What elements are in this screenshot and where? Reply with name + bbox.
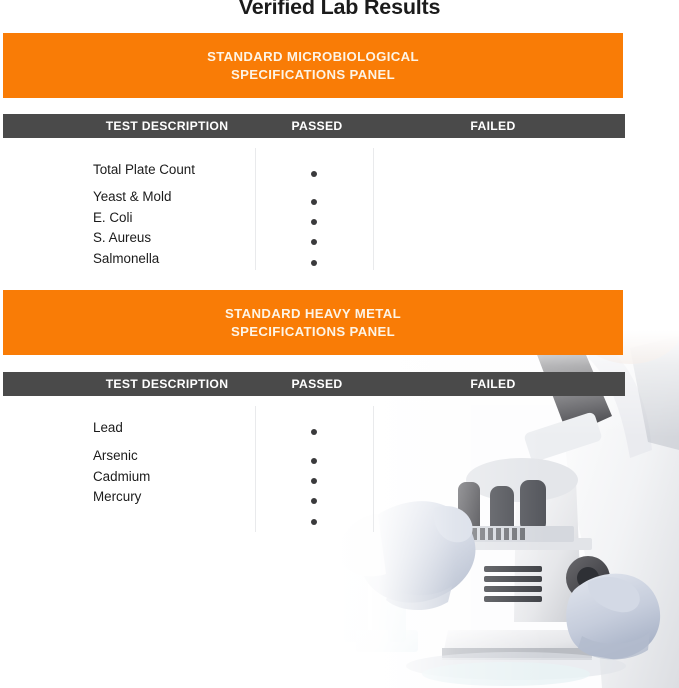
table-body-heavy-metal: Lead Arsenic Cadmium Mercury: [0, 396, 679, 531]
passed-mark-row: [255, 491, 373, 511]
passed-mark-row: [255, 512, 373, 532]
table-row: Total Plate Count: [93, 160, 253, 180]
column-header-passed: PASSED: [258, 114, 376, 138]
passed-dot-icon: [311, 260, 317, 266]
table-row: Yeast & Mold: [93, 187, 253, 207]
banner-line-2: SPECIFICATIONS PANEL: [231, 323, 395, 341]
column-divider-right: [373, 148, 374, 270]
banner-line-2: SPECIFICATIONS PANEL: [231, 66, 395, 84]
column-header-microbiological: TEST DESCRIPTION PASSED FAILED: [3, 114, 625, 138]
table-body-microbiological: Total Plate Count Yeast & Mold E. Coli S…: [0, 138, 679, 268]
test-name-list-heavy-metal: Lead Arsenic Cadmium Mercury: [93, 418, 253, 508]
column-header-passed: PASSED: [258, 372, 376, 396]
page-title: Verified Lab Results: [0, 0, 679, 20]
passed-mark-row: [255, 212, 373, 232]
passed-mark-row: [255, 164, 373, 184]
column-header-failed: FAILED: [423, 114, 563, 138]
verified-lab-results-page: Verified Lab Results STANDARD MICROBIOLO…: [0, 0, 679, 688]
column-divider-right: [373, 406, 374, 532]
table-row: Lead: [93, 418, 253, 438]
column-header-test-description: TEST DESCRIPTION: [63, 372, 271, 396]
test-name-list-microbiological: Total Plate Count Yeast & Mold E. Coli S…: [93, 160, 253, 269]
passed-dot-icon: [311, 458, 317, 464]
passed-mark-row: [255, 422, 373, 442]
panel-banner-heavy-metal: STANDARD HEAVY METAL SPECIFICATIONS PANE…: [3, 290, 623, 355]
table-row: Mercury: [93, 487, 253, 507]
banner-line-1: STANDARD MICROBIOLOGICAL: [207, 48, 419, 66]
passed-mark-row: [255, 253, 373, 273]
banner-line-1: STANDARD HEAVY METAL: [225, 305, 401, 323]
column-header-test-description: TEST DESCRIPTION: [63, 114, 271, 138]
panel-banner-microbiological: STANDARD MICROBIOLOGICAL SPECIFICATIONS …: [3, 33, 623, 98]
table-row: S. Aureus: [93, 228, 253, 248]
table-row: Arsenic: [93, 446, 253, 466]
column-header-failed: FAILED: [423, 372, 563, 396]
table-row: Cadmium: [93, 467, 253, 487]
passed-dot-icon: [311, 239, 317, 245]
passed-dot-icon: [311, 171, 317, 177]
passed-dot-icon: [311, 219, 317, 225]
table-row: Salmonella: [93, 249, 253, 269]
passed-marks-heavy-metal: [255, 422, 373, 532]
passed-dot-icon: [311, 199, 317, 205]
passed-dot-icon: [311, 478, 317, 484]
passed-mark-row: [255, 471, 373, 491]
table-row: E. Coli: [93, 208, 253, 228]
passed-dot-icon: [311, 519, 317, 525]
passed-mark-row: [255, 450, 373, 470]
column-header-heavy-metal: TEST DESCRIPTION PASSED FAILED: [3, 372, 625, 396]
passed-mark-row: [255, 232, 373, 252]
passed-marks-microbiological: [255, 164, 373, 273]
passed-dot-icon: [311, 498, 317, 504]
passed-dot-icon: [311, 429, 317, 435]
passed-mark-row: [255, 191, 373, 211]
